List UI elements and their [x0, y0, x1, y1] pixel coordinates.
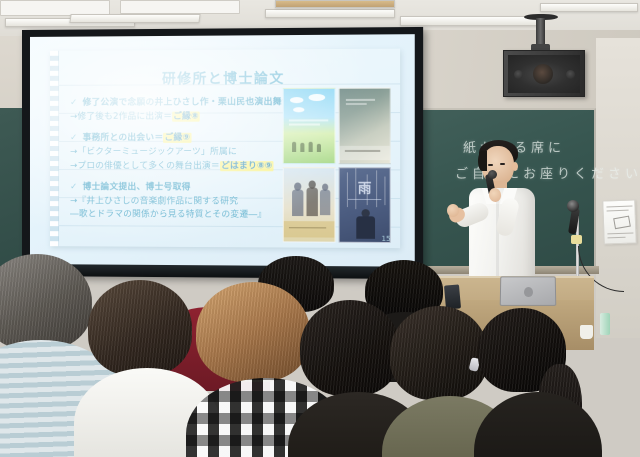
audience-hair [196, 282, 310, 382]
presenter-hand-left [447, 204, 459, 217]
audience-hair [88, 280, 192, 376]
poster-rain-kanji: 雨 [338, 167, 391, 243]
lecture-hall-photo: 紙がある席に ご自由にお座りください。 研修所と博士論文 修了公演で [0, 0, 640, 457]
speaker-tweeter-icon [514, 70, 523, 79]
slide-highlight-2: ご縁⑨ [163, 133, 191, 143]
presenter-eye [488, 164, 493, 166]
ceiling-light-fixture [275, 0, 395, 8]
projection-screen-surface: 研修所と博士論文 修了公演で念願の井上ひさし作・栗山民也演出舞台に →修了後も2… [30, 34, 415, 267]
slide-highlight-3: どはまり⑧⑨ [220, 161, 274, 171]
ceiling-light-fixture [265, 9, 395, 18]
slide-page-number: 15 [381, 235, 390, 243]
microphone-head-icon [488, 170, 497, 179]
poster-mountain-landscape [338, 88, 391, 164]
presenter-hair-side [478, 151, 487, 171]
projection-screen-frame: 研修所と博士論文 修了公演で念願の井上ひさし作・栗山民也演出舞台に →修了後も2… [22, 27, 423, 279]
ceiling-light-fixture [540, 3, 638, 12]
ceiling-panel [120, 0, 240, 14]
ceiling-light-fixture [400, 16, 540, 26]
poster-sky-meadow [283, 88, 335, 164]
ceiling-speaker [503, 50, 585, 97]
slide-poster-grid: 雨 [283, 88, 391, 243]
notice-diagram-icon [613, 216, 631, 230]
poster-kanji-label: 雨 [358, 177, 372, 196]
presentation-slide: 研修所と博士論文 修了公演で念願の井上ひさし作・栗山民也演出舞台に →修了後も2… [50, 49, 400, 249]
audience-shoulders [474, 392, 602, 457]
poster-figures-group [283, 167, 335, 243]
presenter-eye [500, 163, 505, 165]
speaker-tweeter-icon [566, 70, 575, 79]
audience-hair [0, 254, 92, 350]
audience-hair [390, 306, 488, 400]
speaker-woofer-icon [533, 64, 553, 84]
wall-notice-paper [602, 199, 637, 244]
presenter-ear [512, 162, 518, 171]
slide-highlight-1: ご縁⑧ [172, 111, 200, 121]
slide-title: 研修所と博士論文 [50, 66, 400, 88]
audience [0, 252, 640, 457]
audience-hair [300, 300, 400, 396]
mic-stand-clip [571, 235, 582, 244]
ceiling-light-fixture [69, 14, 200, 23]
